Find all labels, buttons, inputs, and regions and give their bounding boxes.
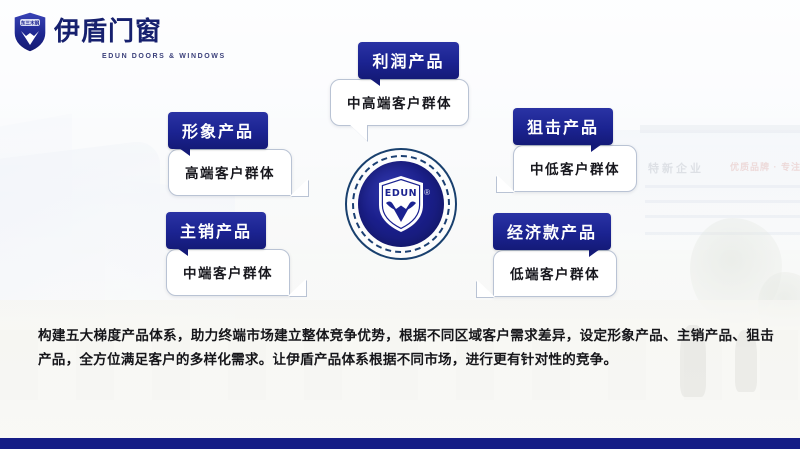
registered-mark-icon: ® <box>91 22 96 29</box>
edun-shield-icon: 东三木钢 <box>12 11 48 53</box>
emblem-registered-mark-icon: ® <box>424 188 430 197</box>
callout-main-product[interactable]: 主销产品 中端客户群体 <box>166 212 290 296</box>
callout-main-segment: 中端客户群体 <box>166 249 290 296</box>
callout-profit-segment: 中高端客户群体 <box>330 79 469 126</box>
emblem-disc: EDUN ® <box>358 161 444 247</box>
callout-snipe-segment: 中低客户群体 <box>513 145 637 192</box>
callout-economy-title: 经济款产品 <box>493 213 611 250</box>
callout-snipe-product[interactable]: 狙击产品 中低客户群体 <box>513 108 637 192</box>
callout-economy-segment: 低端客户群体 <box>493 250 617 297</box>
brand-name-en: EDUN DOORS & WINDOWS <box>102 53 226 60</box>
svg-text:东三木钢: 东三木钢 <box>21 20 40 27</box>
brand-name-zh: 伊盾门窗 <box>54 17 162 47</box>
slide-canvas: 特新企业 优质品牌 · 专注门窗 东三木钢 <box>0 0 800 449</box>
emblem-shield-icon: EDUN <box>376 174 426 234</box>
callout-image-title: 形象产品 <box>168 112 268 149</box>
bottom-accent-bar <box>0 438 800 449</box>
center-emblem: EDUN ® <box>345 148 457 260</box>
callout-image-product[interactable]: 形象产品 高端客户群体 <box>168 112 292 196</box>
callout-profit-title: 利润产品 <box>358 42 458 79</box>
callout-snipe-title: 狙击产品 <box>513 108 613 145</box>
callout-main-title: 主销产品 <box>166 212 266 249</box>
brand-logo: 东三木钢 伊盾门窗 ® EDUN DOORS & WINDOWS <box>12 9 182 55</box>
callout-economy-product[interactable]: 经济款产品 低端客户群体 <box>493 213 617 297</box>
callout-profit-product[interactable]: 利润产品 中高端客户群体 <box>330 42 469 126</box>
callout-image-segment: 高端客户群体 <box>168 149 292 196</box>
svg-text:EDUN: EDUN <box>385 188 417 199</box>
description-paragraph: 构建五大梯度产品体系，助力终端市场建立整体竞争优势，根据不同区域客户需求差异，设… <box>38 324 774 372</box>
